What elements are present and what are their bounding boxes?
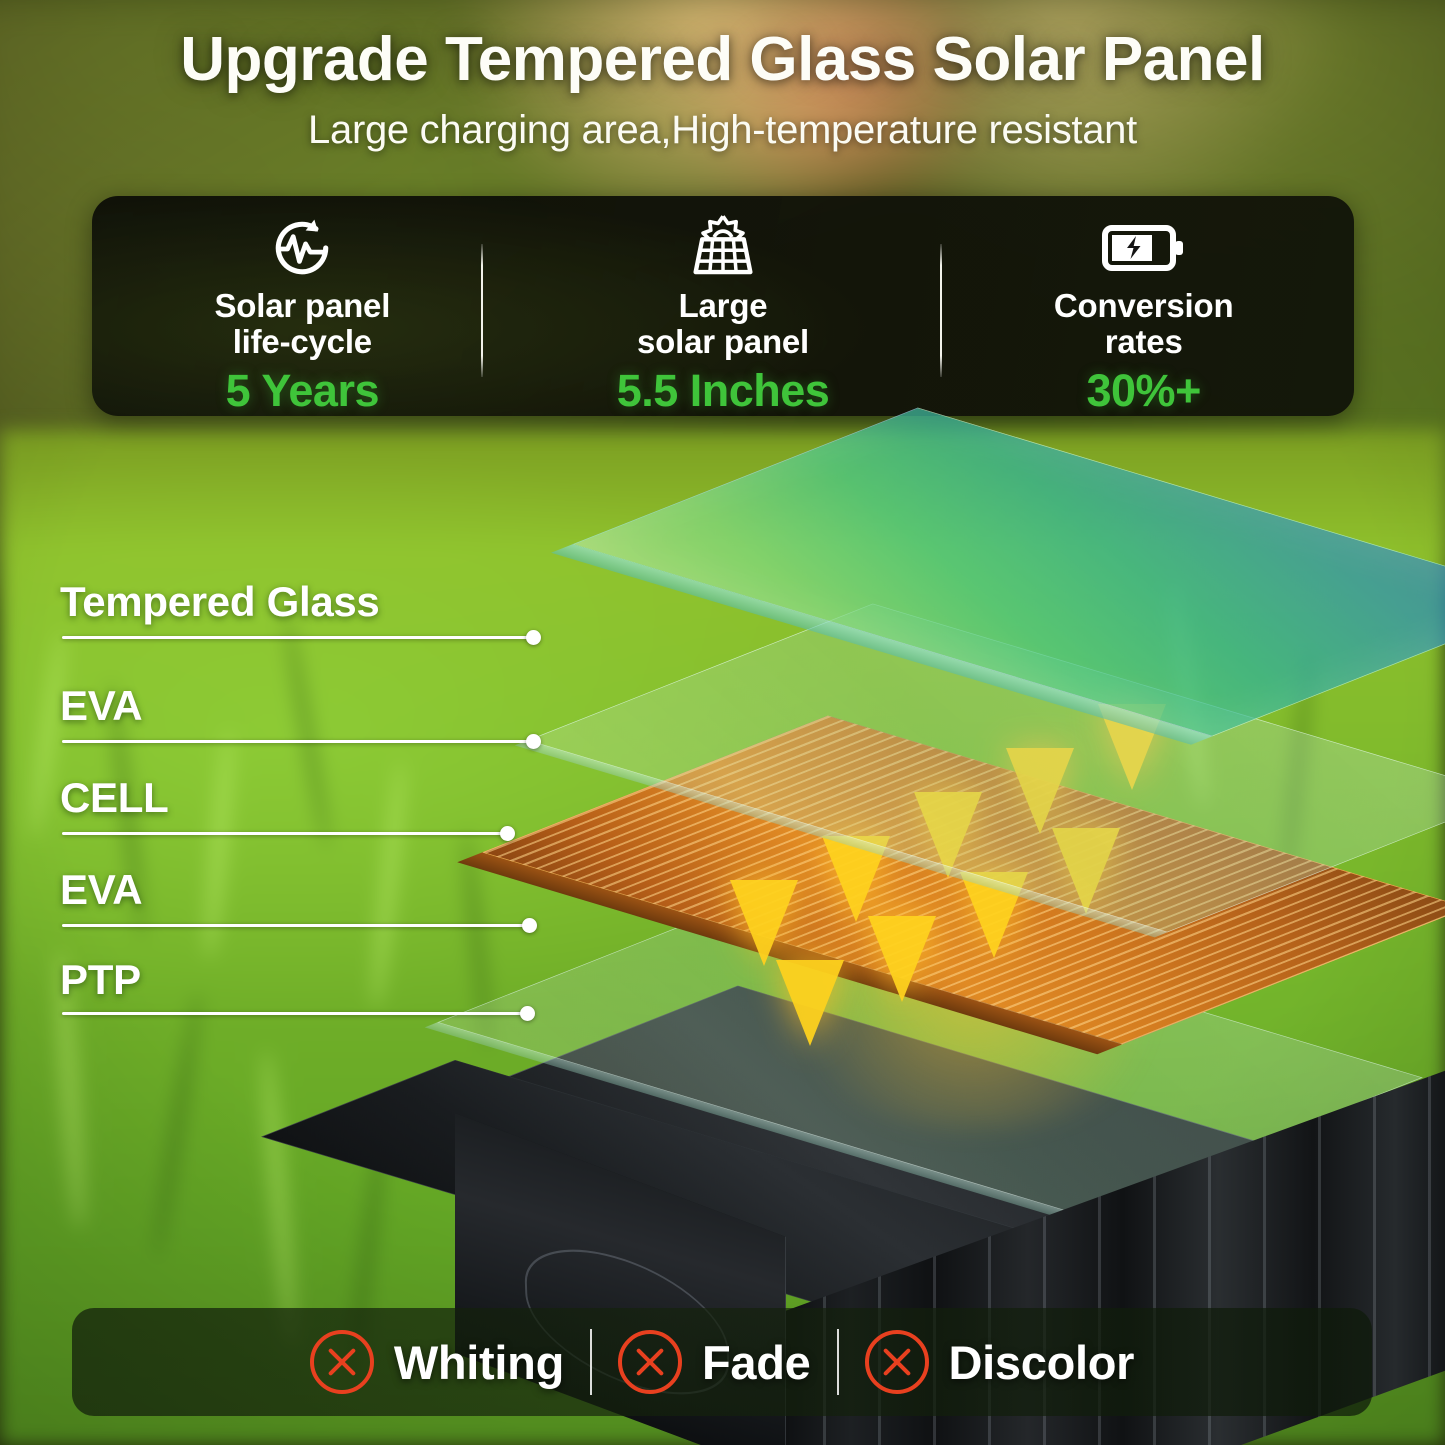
stat-label-line1: Solar panel [92,288,513,324]
lifecycle-pulse-icon [92,214,513,282]
product-infographic: Upgrade Tempered Glass Solar Panel Large… [0,0,1445,1445]
stats-panel: Solar panel life-cycle 5 Years Large sol… [92,196,1354,416]
page-title: Upgrade Tempered Glass Solar Panel [0,24,1445,95]
layer-label-tempered-glass: Tempered Glass [60,578,380,626]
badge-whiting: Whiting [284,1330,590,1394]
leader-line-ptp [62,1012,528,1015]
circle-x-icon [310,1330,374,1394]
stats-divider-1 [481,244,483,377]
stat-label-line1: Large [513,288,934,324]
page-subtitle: Large charging area,High-temperature res… [0,108,1445,153]
badge-label: Whiting [394,1335,564,1390]
stat-item-conversion: Conversion rates 30%+ [933,196,1354,417]
badge-discolor: Discolor [839,1330,1161,1394]
stat-label-line2: rates [933,324,1354,360]
badge-label: Fade [702,1335,811,1390]
stat-item-panel-size: Large solar panel 5.5 Inches [513,196,934,417]
circle-x-icon [865,1330,929,1394]
badge-label: Discolor [949,1335,1135,1390]
leader-line-eva-bottom [62,924,530,927]
stat-label-line2: life-cycle [92,324,513,360]
layer-label-ptp: PTP [60,956,141,1004]
stat-label-line1: Conversion [933,288,1354,324]
stat-item-lifecycle: Solar panel life-cycle 5 Years [92,196,513,417]
leader-line-tempered-glass [62,636,534,639]
stats-divider-2 [940,244,942,377]
solar-panel-icon [513,214,934,282]
warranty-badge-bar: Whiting Fade Discolor [72,1308,1372,1416]
leader-line-eva-top [62,740,534,743]
layer-label-eva-bottom: EVA [60,866,142,914]
layer-label-cell: CELL [60,774,168,822]
badge-fade: Fade [592,1330,837,1394]
leader-line-cell [62,832,508,835]
layer-label-eva-top: EVA [60,682,142,730]
circle-x-icon [618,1330,682,1394]
stat-label-line2: solar panel [513,324,934,360]
exploded-panel-illustration [0,400,1445,1140]
battery-charging-icon [933,214,1354,282]
